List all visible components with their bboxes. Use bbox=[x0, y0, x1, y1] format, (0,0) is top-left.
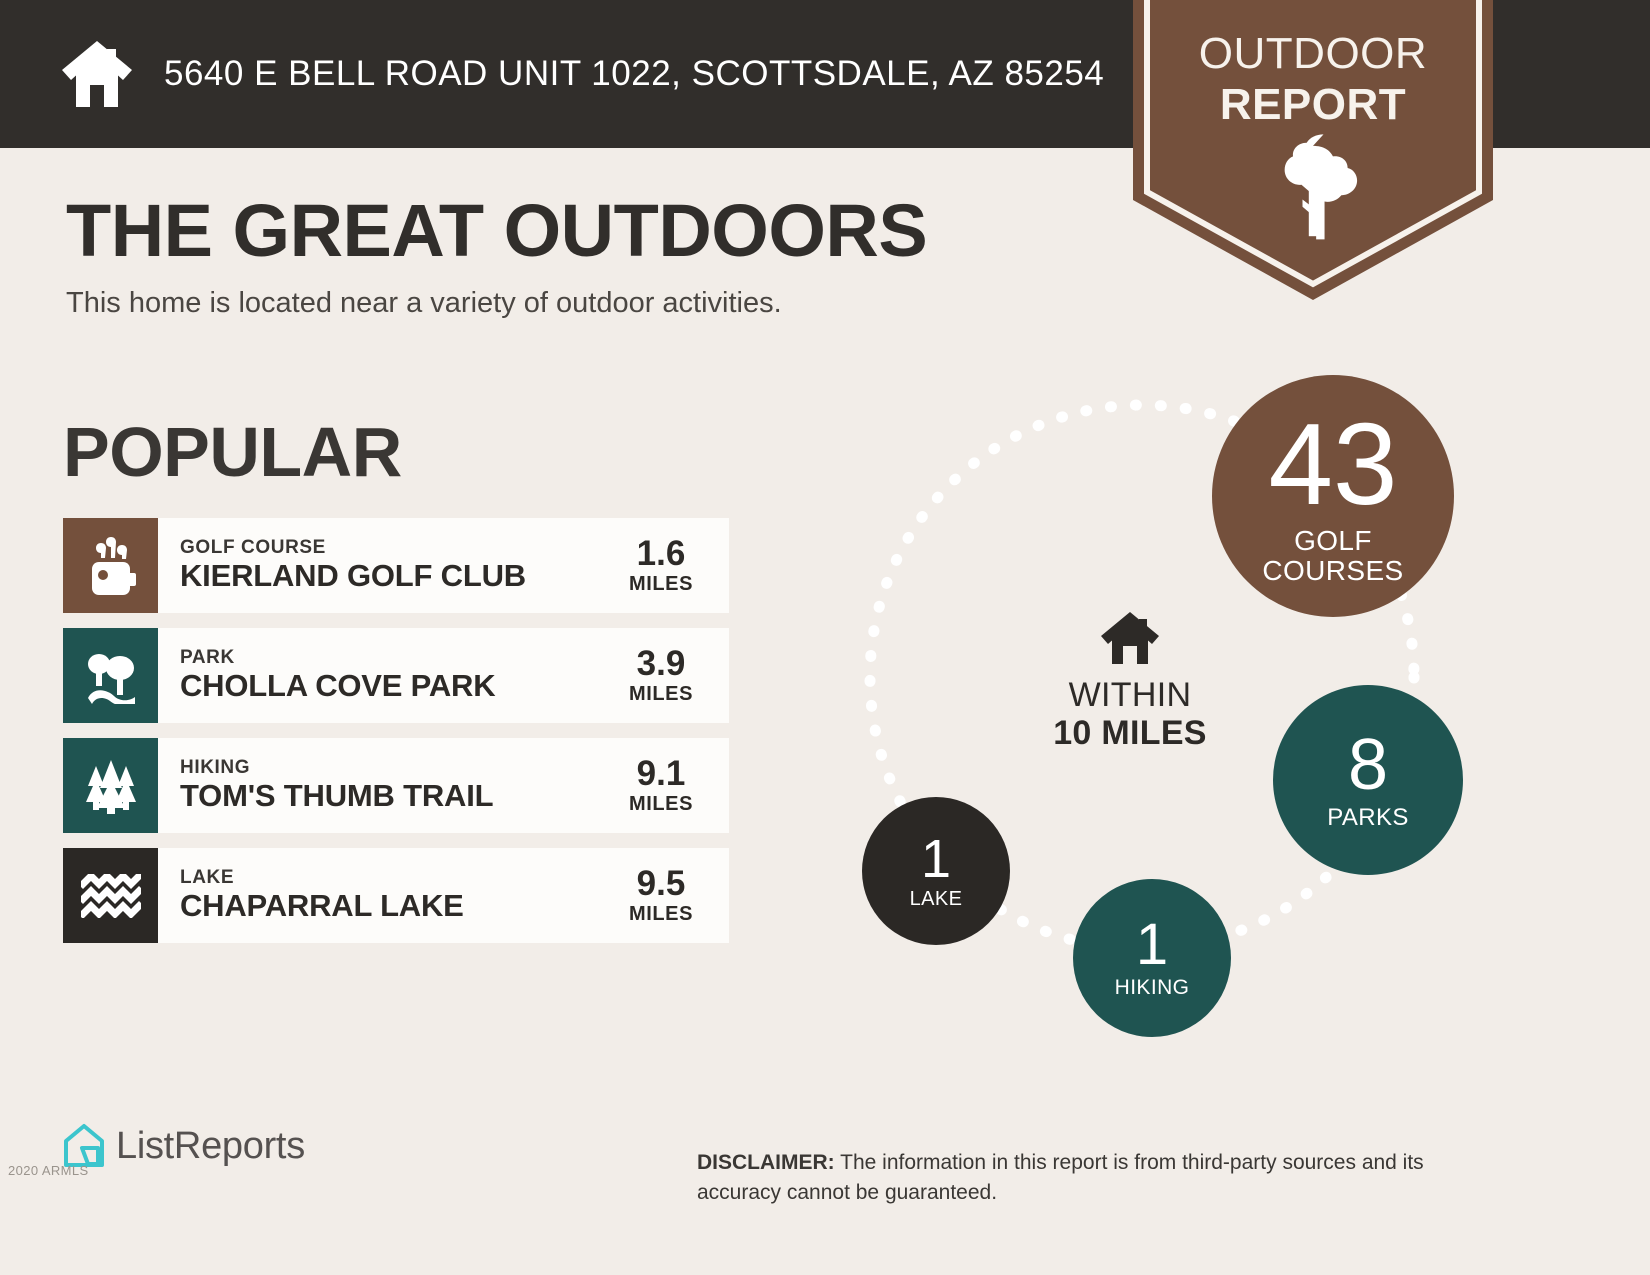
poi-text-cell: LAKE CHAPARRAL LAKE bbox=[158, 848, 613, 943]
stat-bubble-hiking: 1 HIKING bbox=[1073, 879, 1231, 1037]
stat-count: 8 bbox=[1348, 729, 1388, 801]
stat-count: 1 bbox=[1136, 916, 1168, 974]
poi-distance-unit: MILES bbox=[629, 572, 693, 596]
stat-label-line1: GOLF bbox=[1262, 526, 1403, 556]
amenity-count-cluster: 43 GOLF COURSES 8 PARKS 1 HIKING 1 LAKE … bbox=[830, 355, 1510, 1035]
poi-distance-unit: MILES bbox=[629, 682, 693, 706]
poi-text-cell: GOLF COURSE KIERLAND GOLF CLUB bbox=[158, 518, 613, 613]
badge-line2: REPORT bbox=[1133, 79, 1493, 130]
park-trees-icon bbox=[82, 648, 140, 704]
stat-count: 1 bbox=[921, 832, 951, 886]
pine-trees-icon bbox=[82, 758, 140, 814]
home-icon bbox=[60, 39, 134, 109]
water-waves-icon bbox=[81, 874, 141, 918]
list-item[interactable]: LAKE CHAPARRAL LAKE 9.5 MILES bbox=[63, 848, 729, 943]
poi-distance-cell: 3.9 MILES bbox=[613, 628, 729, 723]
list-item[interactable]: PARK CHOLLA COVE PARK 3.9 MILES bbox=[63, 628, 729, 723]
stat-bubble-golf-courses: 43 GOLF COURSES bbox=[1212, 375, 1454, 617]
poi-distance-cell: 9.1 MILES bbox=[613, 738, 729, 833]
golf-bag-icon bbox=[84, 537, 138, 595]
popular-list: GOLF COURSE KIERLAND GOLF CLUB 1.6 MILES bbox=[63, 518, 729, 958]
page-subtitle: This home is located near a variety of o… bbox=[66, 287, 782, 320]
listreports-logo[interactable]: ListReports bbox=[62, 1122, 305, 1170]
poi-distance-unit: MILES bbox=[629, 902, 693, 926]
badge-text: OUTDOOR REPORT bbox=[1133, 28, 1493, 130]
list-item[interactable]: GOLF COURSE KIERLAND GOLF CLUB 1.6 MILES bbox=[63, 518, 729, 613]
poi-category: PARK bbox=[180, 647, 613, 668]
stat-bubble-parks: 8 PARKS bbox=[1273, 685, 1463, 875]
poi-icon-cell bbox=[63, 848, 158, 943]
poi-distance-value: 3.9 bbox=[637, 646, 686, 682]
page-title: THE GREAT OUTDOORS bbox=[66, 188, 927, 273]
poi-distance-cell: 9.5 MILES bbox=[613, 848, 729, 943]
poi-name: TOM'S THUMB TRAIL bbox=[180, 778, 613, 814]
poi-distance-cell: 1.6 MILES bbox=[613, 518, 729, 613]
poi-name: CHOLLA COVE PARK bbox=[180, 668, 613, 704]
poi-distance-value: 9.1 bbox=[637, 756, 686, 792]
property-address: 5640 E BELL ROAD UNIT 1022, SCOTTSDALE, … bbox=[164, 54, 1104, 94]
listreports-wordmark: ListReports bbox=[116, 1125, 305, 1168]
poi-category: LAKE bbox=[180, 867, 613, 888]
poi-icon-cell bbox=[63, 628, 158, 723]
popular-heading: POPULAR bbox=[63, 412, 402, 492]
stat-label: LAKE bbox=[910, 889, 963, 911]
stat-bubble-lake: 1 LAKE bbox=[862, 797, 1010, 945]
stat-label-line2: COURSES bbox=[1262, 556, 1403, 586]
poi-distance-value: 1.6 bbox=[637, 536, 686, 572]
stat-label: HIKING bbox=[1115, 977, 1190, 1000]
disclaimer: DISCLAIMER: The information in this repo… bbox=[697, 1148, 1507, 1208]
poi-distance-value: 9.5 bbox=[637, 866, 686, 902]
poi-icon-cell bbox=[63, 518, 158, 613]
stat-count: 43 bbox=[1268, 406, 1397, 522]
mls-watermark: 2020 ARMLS bbox=[8, 1163, 89, 1178]
outdoor-report-badge: OUTDOOR REPORT bbox=[1133, 0, 1493, 300]
stat-label: PARKS bbox=[1327, 805, 1409, 831]
cluster-center-label: WITHIN 10 MILES bbox=[1015, 610, 1245, 752]
disclaimer-label: DISCLAIMER: bbox=[697, 1151, 835, 1174]
poi-text-cell: PARK CHOLLA COVE PARK bbox=[158, 628, 613, 723]
poi-distance-unit: MILES bbox=[629, 792, 693, 816]
poi-icon-cell bbox=[63, 738, 158, 833]
cluster-center-line1: WITHIN bbox=[1015, 676, 1245, 714]
poi-name: CHAPARRAL LAKE bbox=[180, 888, 613, 924]
stat-label: GOLF COURSES bbox=[1262, 526, 1403, 586]
poi-category: GOLF COURSE bbox=[180, 537, 613, 558]
cluster-center-line2: 10 MILES bbox=[1015, 714, 1245, 752]
poi-category: HIKING bbox=[180, 757, 613, 778]
header-bar: 5640 E BELL ROAD UNIT 1022, SCOTTSDALE, … bbox=[0, 0, 1185, 148]
poi-name: KIERLAND GOLF CLUB bbox=[180, 558, 613, 594]
list-item[interactable]: HIKING TOM'S THUMB TRAIL 9.1 MILES bbox=[63, 738, 729, 833]
home-icon bbox=[1015, 610, 1245, 666]
poi-text-cell: HIKING TOM'S THUMB TRAIL bbox=[158, 738, 613, 833]
badge-line1: OUTDOOR bbox=[1133, 28, 1493, 79]
